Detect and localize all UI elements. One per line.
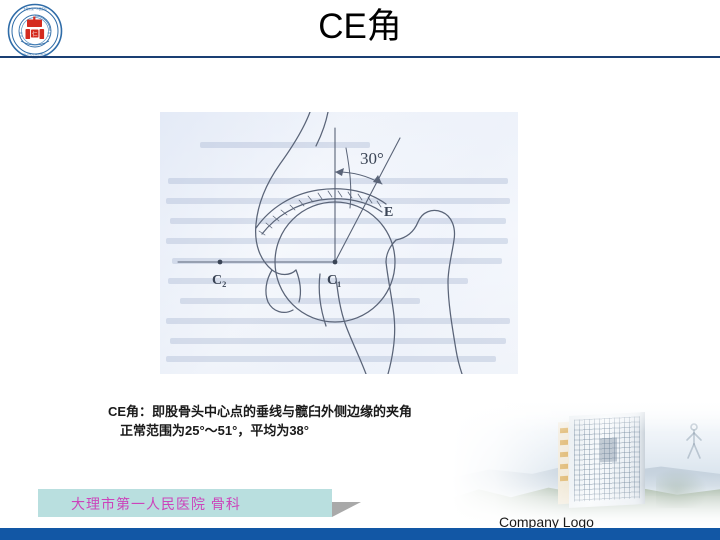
point-c2-marker: [218, 260, 223, 265]
hospital-building-photo: [452, 398, 720, 530]
slide: 大理市第一人民医院 DALI NO.1 HOSPITAL 仁 CE角: [0, 0, 720, 540]
footer-banner-tail-icon: [332, 502, 361, 517]
ce-angle-line-art: 30° E C₁ C₂: [160, 112, 518, 374]
header-divider: [0, 56, 720, 58]
footer-accent-bar: [0, 528, 720, 540]
angle-value-label: 30°: [360, 149, 384, 168]
point-c1-marker: [333, 260, 338, 265]
page-title: CE角: [0, 4, 720, 50]
caption-line-1: CE角：即股骨头中心点的垂线与髋臼外侧边缘的夹角: [108, 404, 412, 419]
point-e-label: E: [384, 205, 393, 220]
point-c1-label: C₁: [327, 273, 341, 288]
point-c2-label: C₂: [212, 273, 226, 288]
footer-banner-label: 大理市第一人民医院 骨科: [71, 494, 241, 514]
photo-fade-overlay: [452, 398, 720, 530]
ce-angle-figure: 30° E C₁ C₂: [160, 112, 518, 374]
